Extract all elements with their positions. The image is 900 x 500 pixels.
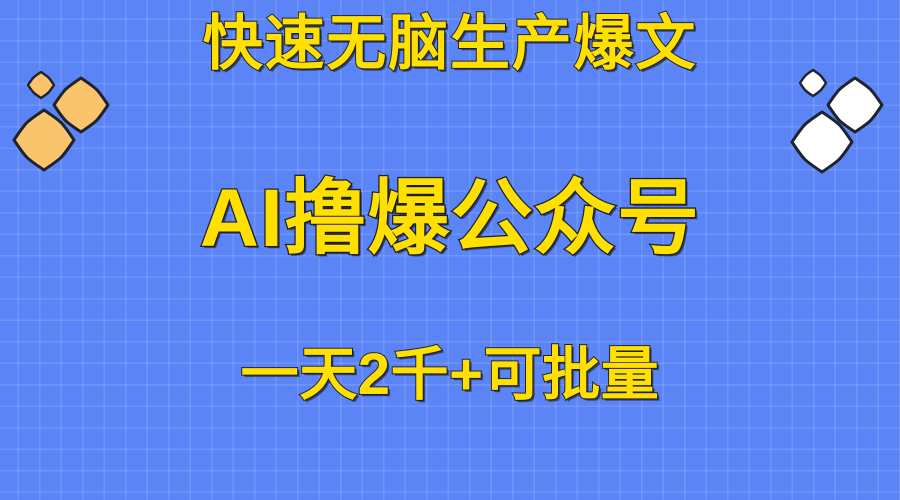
headline-stack: 快速无脑生产爆文 AI撸爆公众号 一天2千+可批量 [0, 0, 900, 500]
headline-line-1: 快速无脑生产爆文 [203, 14, 697, 74]
poster-canvas: 快速无脑生产爆文 AI撸爆公众号 一天2千+可批量 [0, 0, 900, 500]
headline-line-2: AI撸爆公众号 [200, 178, 701, 260]
headline-line-3: 一天2千+可批量 [241, 346, 660, 404]
